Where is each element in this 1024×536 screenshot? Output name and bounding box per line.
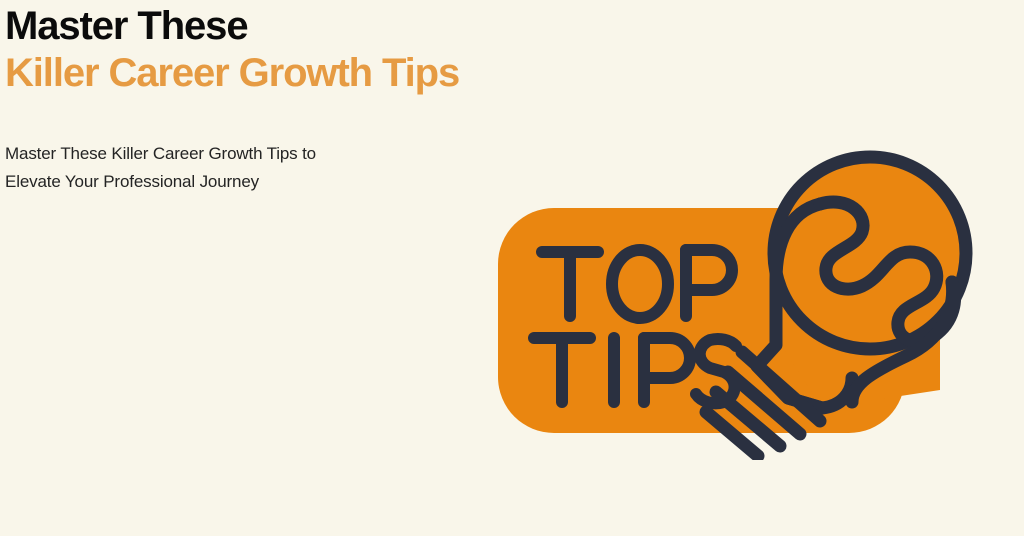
page-title: Master These Killer Career Growth Tips — [5, 4, 605, 96]
top-tips-lightbulb-badge-svg — [470, 140, 1010, 460]
subheadline: Master These Killer Career Growth Tips t… — [5, 140, 485, 196]
headline-line-1: Master These — [5, 4, 605, 49]
top-tips-illustration — [470, 140, 1010, 460]
headline-block: Master These Killer Career Growth Tips — [5, 4, 605, 96]
subheadline-line-2: Elevate Your Professional Journey — [5, 168, 485, 196]
banner-canvas: Master These Killer Career Growth Tips M… — [0, 0, 1024, 536]
headline-line-2: Killer Career Growth Tips — [5, 51, 605, 96]
subheadline-line-1: Master These Killer Career Growth Tips t… — [5, 140, 485, 168]
